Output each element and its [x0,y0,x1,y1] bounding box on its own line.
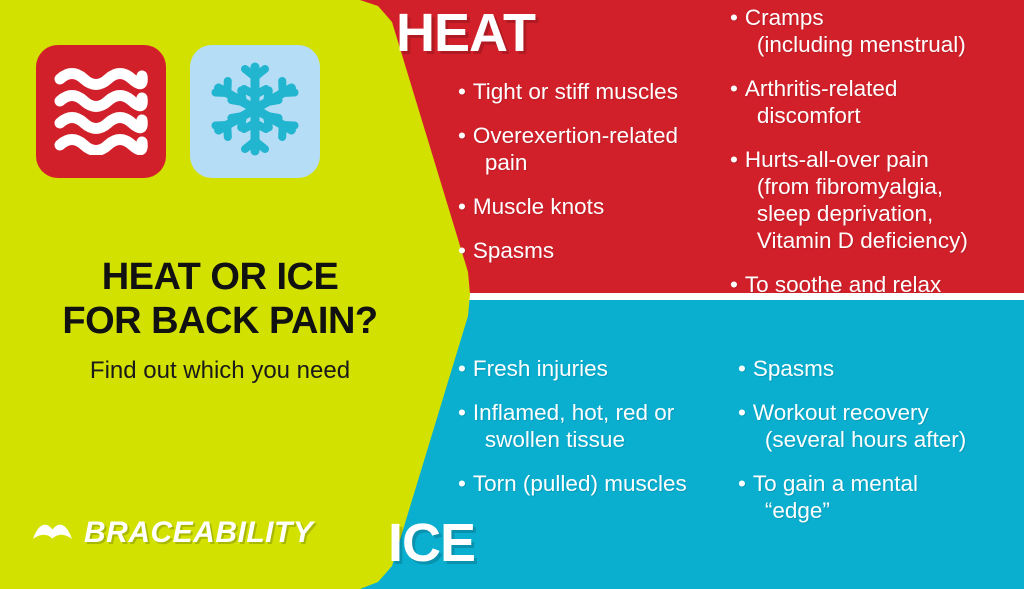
bullet-dot-icon: • [458,399,466,426]
list-item-label: Workout recovery(several hours after) [753,399,966,453]
ice-bullets-left-column: •Fresh injuries•Inflamed, hot, red orswo… [458,355,736,514]
list-item-label: Overexertion-relatedpain [473,122,678,176]
list-item-label: Muscle knots [473,193,604,220]
snowflake-icon [205,59,305,164]
list-item: •Torn (pulled) muscles [458,470,736,497]
list-item: •Spasms [738,355,1024,382]
list-item-label: Torn (pulled) muscles [473,470,687,497]
list-item-label: Fresh injuries [473,355,608,382]
headline-line-1: HEAT OR ICE [0,255,440,299]
bullet-dot-icon: • [730,75,738,102]
bullet-dot-icon: • [738,470,746,497]
bullet-dot-icon: • [738,355,746,382]
list-item: •Arthritis-relateddiscomfort [730,75,1024,129]
braceability-logo-text: BRACEABILITY [84,516,313,550]
heat-section-title: HEAT [396,6,535,60]
list-item: •Workout recovery(several hours after) [738,399,1024,453]
headline-subtitle: Find out which you need [0,357,440,385]
bullet-dot-icon: • [730,146,738,173]
bullet-dot-icon: • [738,399,746,426]
bullet-dot-icon: • [458,355,466,382]
heat-bullets-left-column: •Tight or stiff muscles•Overexertion-rel… [458,78,730,281]
list-item: •Cramps(including menstrual) [730,4,1024,58]
list-item: •To gain a mental“edge” [738,470,1024,524]
list-item: •Fresh injuries [458,355,736,382]
list-item-label: To soothe and relax [745,271,941,298]
bullet-dot-icon: • [458,122,466,149]
ice-icon-tile [190,45,320,178]
list-item-label: To gain a mental“edge” [753,470,918,524]
bullet-dot-icon: • [458,237,466,264]
list-item-label: Arthritis-relateddiscomfort [745,75,898,129]
bullet-dot-icon: • [730,4,738,31]
list-item: •Overexertion-relatedpain [458,122,730,176]
heat-icon-tile [36,45,166,178]
list-item: •Muscle knots [458,193,730,220]
list-item-label: Inflamed, hot, red orswollen tissue [473,399,674,453]
list-item-label: Tight or stiff muscles [473,78,678,105]
ice-section-title: ICE [388,516,475,570]
braceability-wing-mark-icon [32,518,74,549]
list-item-label: Spasms [753,355,834,382]
page-title: HEAT OR ICE FOR BACK PAIN? Find out whic… [0,255,440,385]
list-item: •Inflamed, hot, red orswollen tissue [458,399,736,453]
bullet-dot-icon: • [730,271,738,298]
bullet-dot-icon: • [458,470,466,497]
list-item-label: Cramps(including menstrual) [745,4,966,58]
list-item-label: Spasms [473,237,554,264]
list-item: •Hurts-all-over pain(from fibromyalgia,s… [730,146,1024,254]
heat-bullets-right-column: •Cramps(including menstrual)•Arthritis-r… [730,4,1024,315]
headline-line-2: FOR BACK PAIN? [0,299,440,343]
list-item: •Spasms [458,237,730,264]
bullet-dot-icon: • [458,193,466,220]
braceability-logo[interactable]: BRACEABILITY [32,516,313,550]
list-item-label: Hurts-all-over pain(from fibromyalgia,sl… [745,146,968,254]
list-item: •Tight or stiff muscles [458,78,730,105]
heat-waves-icon [52,63,150,160]
icon-row [36,45,320,178]
infographic-canvas: HEAT OR ICE FOR BACK PAIN? Find out whic… [0,0,1024,589]
bullet-dot-icon: • [458,78,466,105]
ice-bullets-right-column: •Spasms•Workout recovery(several hours a… [738,355,1024,541]
list-item: •To soothe and relax [730,271,1024,298]
